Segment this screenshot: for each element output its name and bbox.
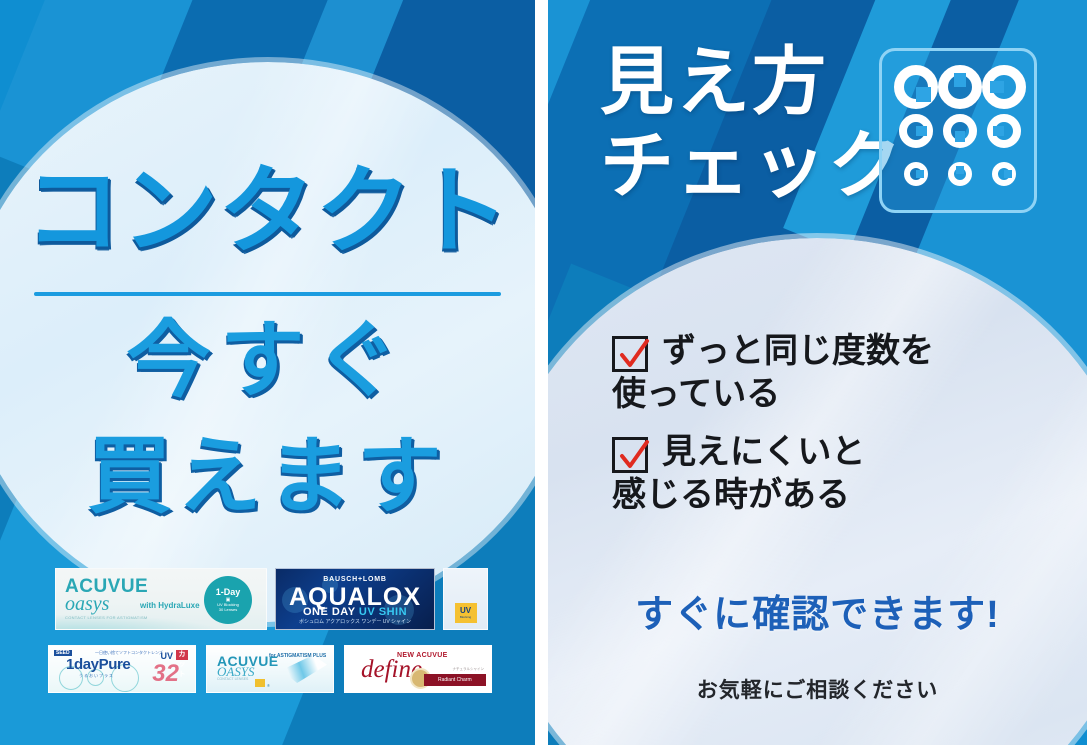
checklist-line-2: 使っている [612,373,934,416]
symptom-checklist: ずっと同じ度数を 使っている 見えにくいと 感じる時がある [612,330,1052,532]
landolt-ring-left-icon [982,65,1026,109]
checklist-line-1: ずっと同じ度数を [662,332,934,370]
uv-cut-badge: カット [176,650,188,660]
landolt-ring-right-icon [992,162,1016,186]
right-title-line-2: チェック [600,124,910,208]
checkbox-checked-icon[interactable] [612,336,648,372]
landolt-ring-top-icon [948,162,972,186]
ring-gap [1004,170,1012,178]
checklist-line-1: 見えにくいと [662,433,865,471]
checklist-item-text: ずっと同じ度数を 使っている [662,330,934,415]
product-brand: 1dayPure [66,657,130,672]
ring-gap [916,126,927,136]
headline-contact: コンタクト [0,164,535,260]
cta-banner: すぐに確認できます! [0,583,1087,638]
checklist-line-2: 感じる時がある [612,474,865,517]
right-title-line-1: 見え方 [600,40,910,124]
poster-root: コンタクト 今すぐ 買えます ACUVUE oasys with HydraLu… [0,0,1087,745]
headline-now: 今すぐ [0,318,535,402]
sub-note: お気軽にご相談ください [0,674,1087,704]
landolt-ring-bottom-icon [943,114,977,148]
sub-note-text: お気軽にご相談ください [697,674,939,704]
check-mark-icon [617,339,651,373]
check-mark-icon [617,440,651,474]
product-maker: BAUSCH+LOMB [276,576,434,583]
checklist-item[interactable]: 見えにくいと 感じる時がある [612,431,1052,516]
landolt-ring-right-icon [899,114,933,148]
cta-text: すぐに確認できます! [635,583,1000,638]
ring-gap [954,73,966,87]
checklist-item-text: 見えにくいと 感じる時がある [662,431,865,516]
headline-buy: 買えます [0,434,535,518]
headline-divider-rule [34,292,501,296]
product-note: ナチュラルシャイン [453,667,485,672]
ring-gap [955,131,965,142]
landolt-ring-right-icon [904,162,928,186]
landolt-ring-bottom-right-icon [894,65,938,109]
landolt-c-chart-icon [879,48,1037,213]
right-panel-title: 見え方 チェック [600,40,910,209]
ring-gap [956,166,964,174]
landolt-ring-left-icon [987,114,1021,148]
ring-gap [993,126,1004,136]
product-tag: for ASTIGMATISM PLUS [269,653,326,659]
landolt-ring-top-icon [938,65,982,109]
ring-gap [916,170,924,178]
checkbox-checked-icon[interactable] [612,437,648,473]
checklist-item[interactable]: ずっと同じ度数を 使っている [612,330,1052,415]
ring-gap [990,81,1004,93]
ring-gap [916,87,931,102]
